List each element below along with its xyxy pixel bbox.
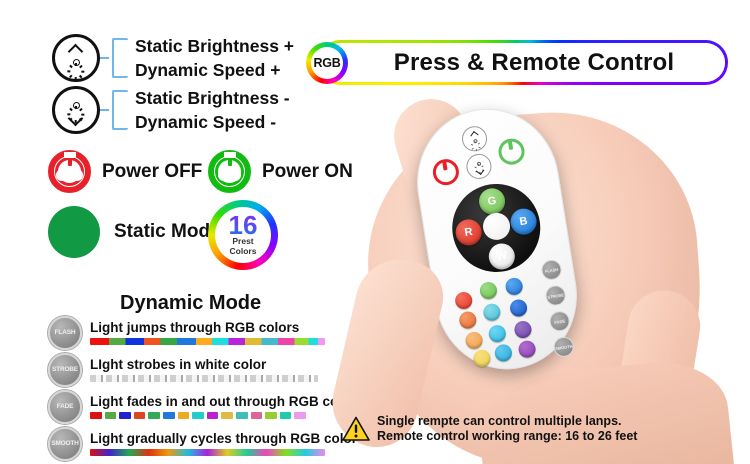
dynamic-mode-item-smooth: SMOOTH Light gradually cycles through RG…	[48, 425, 348, 462]
brightness-down-line2: Dynamic Speed -	[135, 110, 290, 134]
blue-button[interactable]: B	[509, 207, 539, 237]
fade-swatch	[251, 412, 263, 419]
preset-colors-sub2: Colors	[230, 247, 257, 257]
power-on-icon: NO	[208, 150, 251, 193]
power-off-badge: OFF	[56, 169, 83, 181]
fade-swatch	[221, 412, 233, 419]
warning-line1: Single rempte can control multiple lanps…	[377, 414, 637, 429]
color-button-blue[interactable]	[504, 277, 523, 296]
bracket-stub	[100, 57, 109, 59]
strobe-button-label: STROBE	[52, 366, 78, 373]
power-off-icon: OFF	[48, 150, 91, 193]
red-button[interactable]: R	[454, 217, 484, 247]
static-mode-row: Static Mode	[48, 206, 221, 258]
sun-icon	[68, 54, 85, 71]
brightness-up-row: Static Brightness + Dynamic Speed +	[52, 34, 294, 82]
color-button-cyan-light[interactable]	[482, 302, 501, 321]
remote-strobe-button[interactable]: STROBE	[544, 284, 567, 307]
fade-swatch	[148, 412, 160, 419]
dynamic-mode-item-fade: FADE Light fades in and out through RGB …	[48, 388, 348, 425]
remote-power-on-button[interactable]	[497, 137, 527, 167]
chevron-down-icon	[69, 114, 83, 123]
remote-color-grid[interactable]	[453, 274, 549, 372]
warning-line2: Remote control working range: 16 to 26 f…	[377, 429, 637, 444]
brightness-down-labels: Static Brightness - Dynamic Speed -	[135, 86, 290, 134]
strobe-caption: LIght strobes in white color	[90, 357, 348, 372]
flash-button-label: FLASH	[55, 329, 76, 336]
warning-note: Single rempte can control multiple lanps…	[342, 414, 637, 444]
dynamic-mode-item-strobe: STROBE LIght strobes in white color	[48, 351, 348, 388]
brightness-up-line2: Dynamic Speed +	[135, 58, 294, 82]
static-mode-color-dot	[48, 206, 100, 258]
color-button-sky[interactable]	[488, 324, 507, 343]
remote-smooth-label: SMOOTH	[555, 343, 573, 351]
flash-button[interactable]: FLASH	[48, 316, 82, 350]
bracket-connector	[112, 38, 128, 78]
dynamic-mode-list: FLASH Light jumps through RGB colors STR…	[48, 314, 348, 462]
chevron-up-icon	[69, 45, 83, 54]
color-button-purple[interactable]	[513, 320, 532, 339]
color-button-orange[interactable]	[458, 310, 477, 329]
strobe-color-bar	[90, 375, 318, 382]
remote-brightness-up-button[interactable]	[460, 124, 489, 153]
fade-swatch	[119, 412, 131, 419]
rgbw-color-wheel[interactable]: G B R W	[446, 178, 547, 279]
fade-button-label: FADE	[57, 403, 74, 410]
color-button-violet[interactable]	[517, 339, 536, 358]
color-button-deep-blue[interactable]	[509, 298, 528, 317]
rgb-badge-label: RGB	[311, 47, 343, 79]
brightness-down-line1: Static Brightness -	[135, 86, 290, 110]
remote-smooth-button[interactable]: SMOOTH	[552, 335, 575, 358]
flash-caption: Light jumps through RGB colors	[90, 320, 348, 335]
smooth-caption: Light gradually cycles through RGB color…	[90, 431, 365, 446]
remote-flash-label: FLASH	[545, 266, 559, 273]
color-button-green[interactable]	[479, 281, 498, 300]
fade-swatch	[294, 412, 306, 419]
brightness-down-row: Static Brightness - Dynamic Speed -	[52, 86, 290, 134]
remote-fade-button[interactable]: FADE	[548, 310, 571, 333]
fade-swatch	[105, 412, 117, 419]
brightness-up-line1: Static Brightness +	[135, 34, 294, 58]
static-mode-label: Static Mode	[114, 221, 221, 243]
color-button-yellow[interactable]	[472, 349, 491, 368]
bracket-stub	[100, 109, 109, 111]
chevron-down-icon	[475, 168, 484, 174]
brightness-up-labels: Static Brightness + Dynamic Speed +	[135, 34, 294, 82]
brightness-up-icon	[52, 34, 100, 82]
fade-text: Light fades in and out through RGB color…	[90, 394, 363, 419]
fade-swatch	[236, 412, 248, 419]
fade-swatch	[280, 412, 292, 419]
fade-swatch	[192, 412, 204, 419]
flash-color-bar	[90, 338, 325, 345]
header-banner: Press & Remote Control	[318, 40, 728, 85]
strobe-text: LIght strobes in white color	[90, 357, 348, 382]
bracket-connector	[112, 90, 128, 130]
fade-swatch	[134, 412, 146, 419]
preset-colors-core: 16 Prest Colors	[215, 207, 271, 263]
fade-swatch	[265, 412, 277, 419]
fade-color-bar	[90, 412, 306, 419]
fade-swatch	[90, 412, 102, 419]
preset-colors-badge: 16 Prest Colors	[208, 200, 278, 270]
fade-swatch	[163, 412, 175, 419]
header-banner-inner: Press & Remote Control	[321, 43, 725, 82]
fade-caption: Light fades in and out through RGB color…	[90, 394, 363, 409]
remote-strobe-label: STROBE	[547, 292, 564, 300]
smooth-button-label: SMOOTH	[51, 440, 78, 447]
color-button-amber[interactable]	[464, 331, 483, 350]
strobe-button[interactable]: STROBE	[48, 353, 82, 387]
sun-icon	[469, 136, 480, 147]
wheel-center-button[interactable]	[481, 211, 512, 242]
color-button-red[interactable]	[454, 291, 473, 310]
hand-holding-remote-photo: G B R W FLASH STROBE FADE SMOOTH	[330, 90, 750, 464]
flash-text: Light jumps through RGB colors	[90, 320, 348, 345]
remote-power-off-button[interactable]	[431, 157, 461, 187]
power-off-row: OFF Power OFF	[48, 150, 202, 193]
preset-colors-count: 16	[229, 214, 258, 237]
rgb-badge-icon: RGB	[306, 42, 348, 84]
green-button[interactable]: G	[477, 186, 507, 216]
white-button[interactable]: W	[487, 242, 517, 272]
smooth-text: Light gradually cycles through RGB color…	[90, 431, 365, 456]
warning-triangle-icon	[342, 416, 370, 442]
smooth-button[interactable]: SMOOTH	[48, 427, 82, 461]
dynamic-mode-item-flash: FLASH Light jumps through RGB colors	[48, 314, 348, 351]
warning-text: Single rempte can control multiple lanps…	[377, 414, 637, 444]
brightness-down-icon	[52, 86, 100, 134]
fade-swatch	[178, 412, 190, 419]
remote-brightness-down-button[interactable]	[465, 152, 494, 181]
dynamic-mode-title: Dynamic Mode	[120, 292, 261, 315]
smooth-color-bar	[90, 449, 325, 456]
power-off-label: Power OFF	[102, 161, 202, 183]
fade-button[interactable]: FADE	[48, 390, 82, 424]
fade-swatch	[207, 412, 219, 419]
color-button-azure[interactable]	[494, 343, 513, 362]
page-title: Press & Remote Control	[372, 49, 674, 77]
remote-flash-button[interactable]: FLASH	[540, 258, 563, 281]
remote-fade-label: FADE	[554, 318, 565, 325]
power-on-badge: NO	[218, 169, 240, 181]
